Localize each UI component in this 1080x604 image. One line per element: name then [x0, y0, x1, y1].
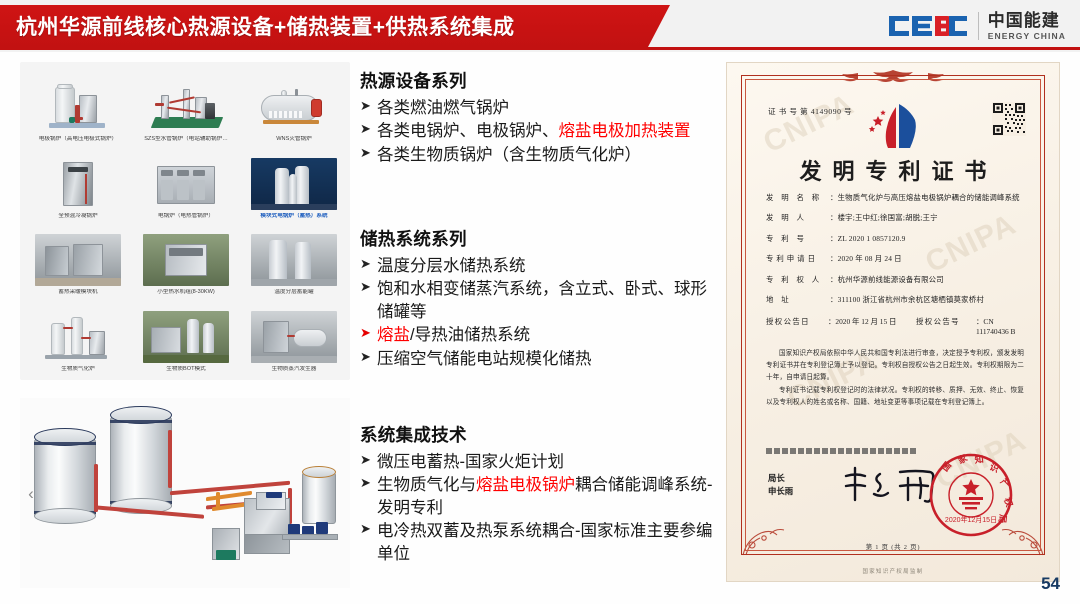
product-caption: 温度分层蓄能罐	[242, 289, 346, 295]
product-card[interactable]: WNS火管锅炉	[240, 68, 348, 145]
certificate-title: 发明专利证书	[742, 154, 1044, 186]
field-row: 发 明 人 ：楼宇;王中红;徐国富;胡脱;王宁	[766, 214, 1026, 223]
product-caption: 电锅炉（电热管锅炉）	[134, 213, 238, 219]
field-value: ：楼宇;王中红;徐国富;胡脱;王宁	[830, 214, 1026, 223]
field-row-grant: 授权公告日 ：2020 年 12 月 15 日 授权公告号 ：CN 111740…	[766, 316, 1026, 336]
product-caption: SZS型水管锅炉（电站辅助锅炉…	[134, 136, 238, 142]
heat-storage-module-icon	[35, 234, 121, 286]
section-title: 热源设备系列	[360, 68, 691, 93]
ornament-bottom-right-icon	[988, 518, 1046, 558]
ornament-bottom-left-icon	[740, 518, 798, 558]
product-caption: WNS火管锅炉	[242, 136, 346, 142]
small-hot-water-unit-icon	[143, 234, 229, 286]
content-text-column: 热源设备系列 ➤ 各类燃油燃气锅炉 ➤ 各类电锅炉、电极锅炉、熔盐电极加热装置 …	[360, 62, 720, 592]
director-label: 局长	[768, 472, 793, 485]
product-card[interactable]: 生物质BOT模式	[132, 298, 240, 375]
product-card[interactable]: SZS型水管锅炉（电站辅助锅炉…	[132, 68, 240, 145]
electric-boiler-icon	[143, 158, 229, 210]
field-key: 专 利 权 人	[766, 276, 830, 285]
list-item: ➤ 压缩空气储能电站规模化储热	[360, 348, 720, 370]
product-card[interactable]: 蓄热采暖模块机	[24, 221, 132, 298]
product-card[interactable]: 温度分层蓄能罐	[240, 221, 348, 298]
section-heat-storage: 储热系统系列 ➤ 温度分层水储热系统 ➤ 饱和水相变储蒸汽系统，含立式、卧式、球…	[360, 226, 720, 371]
list-item: ➤ 熔盐/导热油储热系统	[360, 324, 720, 346]
biomass-bot-icon	[143, 311, 229, 363]
field-value: ：生物质气化炉与高压熔盐电极锅炉耦合的储能调峰系统	[830, 194, 1026, 203]
list-item-label: 生物质气化与熔盐电极锅炉耦合储能调峰系统-发明专利	[377, 474, 720, 519]
list-item-label: 压缩空气储能电站规模化储热	[377, 348, 720, 370]
section-system-integration: 系统集成技术 ➤ 微压电蓄热-国家火炬计划 ➤ 生物质气化与熔盐电极锅炉耦合储能…	[360, 422, 720, 566]
svg-text:权: 权	[1002, 495, 1014, 509]
product-caption: 蓄热采暖模块机	[26, 289, 130, 295]
slide-page-number: 54	[1041, 574, 1060, 594]
carousel-prev-button[interactable]: ‹	[24, 483, 38, 505]
product-card[interactable]: 模块式电锅炉（蓄热）系统	[240, 145, 348, 222]
biomass-gasifier-icon	[35, 311, 121, 363]
list-item: ➤ 饱和水相变储蒸汽系统，含立式、卧式、球形储罐等	[360, 278, 720, 323]
arrow-bullet-icon: ➤	[360, 348, 377, 368]
product-card[interactable]: 电极锅炉（高电压电极式锅炉）	[24, 68, 132, 145]
arrow-bullet-icon: ➤	[360, 120, 377, 140]
certificate-paragraphs: 国家知识产权局依照中华人民共和国专利法进行审查，决定授予专利权，颁发发明专利证书…	[766, 348, 1024, 409]
product-caption: 电极锅炉（高电压电极式锅炉）	[26, 136, 130, 142]
fire-tube-boiler-icon	[251, 81, 337, 133]
list-item: ➤ 温度分层水储热系统	[360, 255, 720, 277]
certificate-fields: 发 明 名 称 ：生物质气化炉与高压熔盐电极锅炉耦合的储能调峰系统 发 明 人 …	[766, 194, 1026, 348]
brand-name-cn: 中国能建	[988, 12, 1066, 29]
product-caption: 生物质蒸汽发生器	[242, 366, 346, 372]
list-item: ➤ 生物质气化与熔盐电极锅炉耦合储能调峰系统-发明专利	[360, 474, 720, 519]
qr-code-icon	[992, 102, 1026, 136]
stratified-storage-tank-icon	[251, 234, 337, 286]
field-row: 专 利 权 人 ：杭州华源前线能源设备有限公司	[766, 276, 1026, 285]
handwritten-signature-icon	[838, 464, 948, 506]
arrow-bullet-icon: ➤	[360, 278, 377, 298]
product-gallery: 电极锅炉（高电压电极式锅炉） SZS型水管锅炉（电站辅助锅炉…	[20, 62, 350, 380]
field-row: 专 利 号 ：ZL 2020 1 0857120.9	[766, 235, 1026, 244]
cnipa-emblem-icon	[858, 98, 928, 150]
svg-text:产: 产	[999, 476, 1013, 490]
section-list: ➤ 微压电蓄热-国家火炬计划 ➤ 生物质气化与熔盐电极锅炉耦合储能调峰系统-发明…	[360, 451, 720, 565]
product-caption: 模块式电锅炉（蓄热）系统	[242, 213, 346, 219]
arrow-bullet-icon: ➤	[360, 520, 377, 540]
arrow-bullet-icon: ➤	[360, 451, 377, 471]
field-value: ：311100 浙江省杭州市余杭区塘栖镇莫家桥村	[830, 296, 1026, 305]
certificate-number: 证 书 号 第 4149090 号	[768, 106, 852, 117]
biomass-steam-generator-icon	[251, 311, 337, 363]
field-row: 专利申请日 ：2020 年 08 月 24 日	[766, 255, 1026, 264]
arrow-bullet-icon: ➤	[360, 144, 377, 164]
patent-certificate: CNIPA CNIPA CNIPA CNIPA	[726, 62, 1060, 582]
arrow-bullet-icon: ➤	[360, 97, 377, 117]
official-seal-icon: 国 家 知 识 产 权 局 2020年12月15日	[928, 452, 1014, 538]
list-item-label: 各类燃油燃气锅炉	[377, 97, 691, 119]
product-caption: 小型热水机组(8-30KW)	[134, 289, 238, 295]
list-item: ➤ 微压电蓄热-国家火炬计划	[360, 451, 720, 473]
ornament-top-icon	[818, 69, 968, 85]
water-tube-boiler-icon	[143, 81, 229, 133]
director-block: 局长 申长雨	[768, 472, 793, 498]
electrode-boiler-icon	[35, 81, 121, 133]
product-caption: 全预混冷凝锅炉	[26, 213, 130, 219]
list-item-label: 各类电锅炉、电极锅炉、熔盐电极加热装置	[377, 120, 691, 142]
header-divider	[0, 47, 1080, 50]
svg-text:家: 家	[956, 452, 970, 466]
section-title: 储热系统系列	[360, 226, 720, 251]
svg-text:识: 识	[988, 461, 1000, 475]
list-item-label: 微压电蓄热-国家火炬计划	[377, 451, 720, 473]
field-value: ：CN 111740436 B	[976, 316, 1026, 336]
list-item-label: 电冷热双蓄及热泵系统耦合-国家标准主要参编单位	[377, 520, 720, 565]
svg-text:局: 局	[997, 514, 1008, 524]
field-key: 发 明 名 称	[766, 194, 830, 203]
modular-storage-system-icon	[251, 158, 337, 210]
slide: 杭州华源前线核心热源设备+储热装置+供热系统集成 中国能建 ENERGY CHI…	[0, 0, 1080, 604]
brand-name-en: ENERGY CHINA	[988, 32, 1066, 41]
field-key: 专 利 号	[766, 235, 830, 244]
section-heat-source: 热源设备系列 ➤ 各类燃油燃气锅炉 ➤ 各类电锅炉、电极锅炉、熔盐电极加热装置 …	[360, 68, 691, 167]
page-title: 杭州华源前线核心热源设备+储热装置+供热系统集成	[0, 11, 515, 41]
product-card[interactable]: 生物质气化炉	[24, 298, 132, 375]
director-name: 申长雨	[768, 485, 793, 498]
field-value: ：2020 年 08 月 24 日	[830, 255, 1026, 264]
field-key: 发 明 人	[766, 214, 830, 223]
certificate-footer-note: 国家知识产权局监制	[727, 567, 1059, 575]
seal-date: 2020年12月15日	[945, 515, 997, 524]
field-value: ：ZL 2020 1 0857120.9	[830, 235, 1026, 244]
list-item-label: 温度分层水储热系统	[377, 255, 720, 277]
product-card[interactable]: 小型热水机组(8-30KW)	[132, 221, 240, 298]
product-card[interactable]: 电锅炉（电热管锅炉）	[132, 145, 240, 222]
arrow-bullet-icon: ➤	[360, 324, 377, 344]
paragraph-2: 专利证书记载专利权登记时的法律状况。专利权的转移、质押、无效、终止、恢复以及专利…	[766, 385, 1024, 409]
list-item: ➤ 各类生物质锅炉（含生物质气化炉）	[360, 144, 691, 166]
paragraph-1: 国家知识产权局依照中华人民共和国专利法进行审查，决定授予专利权，颁发发明专利证书…	[766, 348, 1024, 385]
product-caption: 生物质BOT模式	[134, 366, 238, 372]
svg-text:知: 知	[973, 453, 984, 465]
certificate-border: 证 书 号 第 4149090 号	[741, 75, 1045, 555]
list-item-label: 熔盐/导热油储热系统	[377, 324, 720, 346]
product-card[interactable]: 生物质蒸汽发生器	[240, 298, 348, 375]
arrow-bullet-icon: ➤	[360, 474, 377, 494]
product-caption: 生物质气化炉	[26, 366, 130, 372]
certificate-page-label: 第 1 页 (共 2 页)	[742, 542, 1044, 551]
list-item: ➤ 各类电锅炉、电极锅炉、熔盐电极加热装置	[360, 120, 691, 142]
title-banner: 杭州华源前线核心热源设备+储热装置+供热系统集成	[0, 5, 670, 47]
field-row: 发 明 名 称 ：生物质气化炉与高压熔盐电极锅炉耦合的储能调峰系统	[766, 194, 1026, 203]
arrow-bullet-icon: ➤	[360, 255, 377, 275]
field-key: 授权公告号	[916, 316, 976, 336]
condensing-boiler-icon	[35, 158, 121, 210]
field-value: ：杭州华源前线能源设备有限公司	[830, 276, 1026, 285]
field-key: 授权公告日	[766, 316, 828, 336]
redaction-bar	[766, 448, 918, 454]
system-3d-render	[20, 398, 350, 588]
field-key: 地 址	[766, 296, 830, 305]
brand-logo: 中国能建 ENERGY CHINA	[887, 8, 1066, 44]
list-item-label: 各类生物质锅炉（含生物质气化炉）	[377, 144, 691, 166]
svg-text:国: 国	[940, 460, 953, 473]
field-value: ：2020 年 12 月 15 日	[828, 316, 896, 336]
section-list: ➤ 各类燃油燃气锅炉 ➤ 各类电锅炉、电极锅炉、熔盐电极加热装置 ➤ 各类生物质…	[360, 97, 691, 166]
list-item-label: 饱和水相变储蒸汽系统，含立式、卧式、球形储罐等	[377, 278, 720, 323]
list-item: ➤ 电冷热双蓄及热泵系统耦合-国家标准主要参编单位	[360, 520, 720, 565]
field-row: 地 址 ：311100 浙江省杭州市余杭区塘栖镇莫家桥村	[766, 296, 1026, 305]
ceec-logo-icon	[887, 13, 969, 39]
section-title: 系统集成技术	[360, 422, 720, 447]
section-list: ➤ 温度分层水储热系统 ➤ 饱和水相变储蒸汽系统，含立式、卧式、球形储罐等 ➤ …	[360, 255, 720, 370]
list-item: ➤ 各类燃油燃气锅炉	[360, 97, 691, 119]
slide-header: 杭州华源前线核心热源设备+储热装置+供热系统集成 中国能建 ENERGY CHI…	[0, 0, 1080, 52]
brand-text: 中国能建 ENERGY CHINA	[978, 12, 1066, 41]
field-key: 专利申请日	[766, 255, 830, 264]
product-card[interactable]: 全预混冷凝锅炉	[24, 145, 132, 222]
